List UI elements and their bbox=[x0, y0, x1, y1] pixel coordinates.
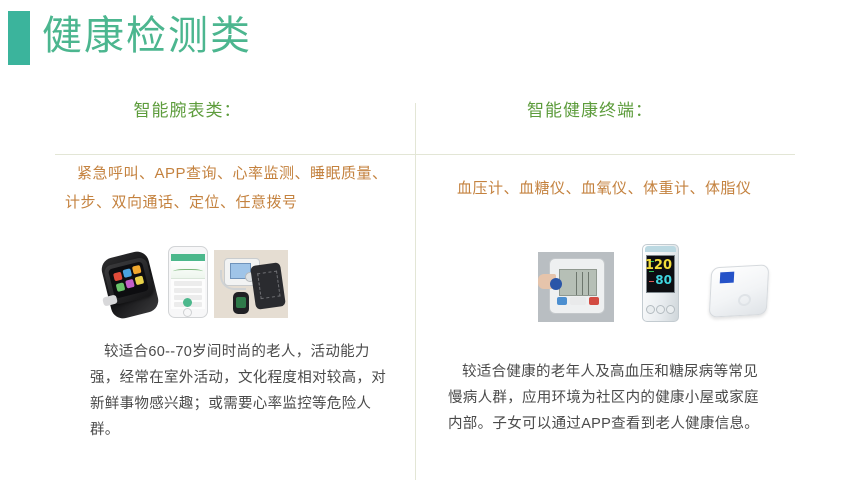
watch-app-icon bbox=[116, 282, 126, 292]
watch-app-icon bbox=[132, 265, 142, 275]
scale-display bbox=[720, 272, 735, 284]
monitor-readout: 120 80 bbox=[645, 258, 672, 288]
systolic-value: 120 bbox=[645, 258, 672, 273]
slide-title-row: 健康检测类 bbox=[0, 0, 850, 88]
monitor-knob bbox=[656, 305, 665, 314]
feature-list-smart-watch: 紧急呼叫、APP查询、心率监测、睡眠质量、计步、双向通话、定位、任意拨号 bbox=[55, 159, 410, 217]
watch-app-icon bbox=[122, 268, 132, 278]
monitor-control-knobs bbox=[646, 305, 675, 315]
device-button-white bbox=[570, 297, 586, 305]
device-button-red bbox=[589, 297, 599, 305]
device-lcd-screen bbox=[559, 269, 597, 296]
description-health-terminal: 较适合健康的老年人及高血压和糖尿病等常见慢病人群，应用环境为社区内的健康小屋或家… bbox=[448, 359, 768, 437]
app-list-row bbox=[174, 281, 202, 286]
phone-screen bbox=[171, 254, 205, 309]
page-title: 健康检测类 bbox=[42, 8, 252, 64]
body-fat-scale-photo bbox=[706, 260, 776, 322]
device-button-blue bbox=[557, 297, 567, 305]
title-accent-bar bbox=[8, 11, 30, 65]
paired-watch bbox=[233, 292, 249, 314]
app-chart bbox=[171, 261, 205, 279]
monitor-top-cap bbox=[645, 246, 676, 252]
monitor-knob bbox=[666, 305, 675, 314]
app-navbar bbox=[171, 254, 205, 261]
monitor-screen: 120 80 bbox=[646, 255, 675, 293]
device-button-row bbox=[557, 297, 599, 305]
watch-app-icon bbox=[135, 276, 145, 286]
vertical-divider bbox=[415, 103, 416, 480]
wrist-blood-pressure-device-photo bbox=[538, 252, 614, 322]
blue-knob bbox=[550, 278, 562, 290]
smartphone-app-photo bbox=[168, 246, 208, 318]
blood-pressure-monitor-photo bbox=[214, 250, 288, 318]
diastolic-value: 80 bbox=[645, 273, 672, 288]
phone-home-button bbox=[183, 308, 192, 317]
monitor-knob bbox=[646, 305, 655, 314]
image-strip-smart-watch bbox=[98, 246, 308, 318]
watch-app-icon bbox=[113, 272, 123, 282]
column-heading-health-terminal: 智能健康终端： bbox=[425, 96, 795, 126]
column-health-terminal: 智能健康终端： 血压计、血糖仪、血氧仪、体重计、体脂仪 bbox=[425, 96, 795, 203]
patient-monitor-photo: 120 80 bbox=[638, 244, 682, 322]
image-strip-health-terminal: 120 80 bbox=[538, 244, 768, 322]
app-list-row bbox=[174, 288, 202, 293]
bp-arm-cuff bbox=[250, 262, 286, 310]
scale-platform bbox=[709, 264, 770, 317]
feature-list-health-terminal: 血压计、血糖仪、血氧仪、体重计、体脂仪 bbox=[425, 174, 795, 203]
app-action-button bbox=[183, 298, 192, 307]
column-heading-smart-watch: 智能腕表类： bbox=[55, 96, 410, 126]
smartwatch-photo bbox=[98, 252, 162, 318]
slide-root: 健康检测类 智能腕表类： 紧急呼叫、APP查询、心率监测、睡眠质量、计步、双向通… bbox=[0, 0, 850, 482]
description-smart-watch: 较适合60--70岁间时尚的老人，活动能力强，经常在室外活动，文化程度相对较高，… bbox=[90, 339, 390, 443]
column-smart-watch: 智能腕表类： 紧急呼叫、APP查询、心率监测、睡眠质量、计步、双向通话、定位、任… bbox=[55, 96, 410, 217]
watch-app-icon bbox=[125, 279, 135, 289]
